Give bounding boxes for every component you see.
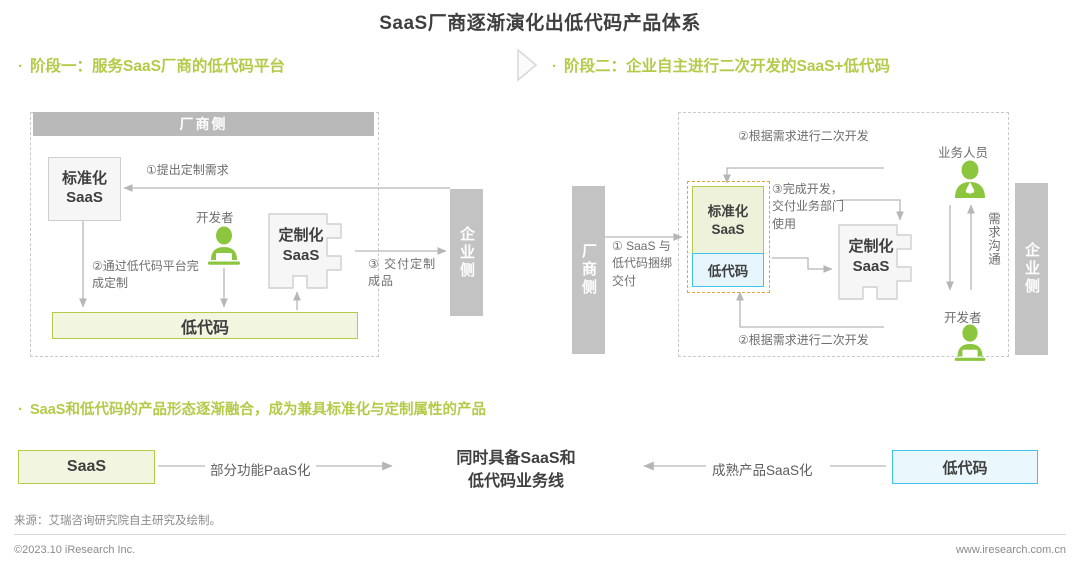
stage1-step3-caption: ③ 交付定制成品: [368, 256, 438, 291]
stage2-step2-bottom-caption: ②根据需求进行二次开发: [738, 332, 869, 349]
bottom-connectors: [0, 440, 1080, 500]
stage1-step1-caption: ①提出定制需求: [146, 162, 229, 179]
stage2-step3-caption: ③完成开发，交付业务部门使用: [772, 181, 852, 233]
stage2-step2-top-caption: ②根据需求进行二次开发: [738, 128, 869, 145]
stage2-step1-caption: ① SaaS 与低代码捆绑交付: [612, 238, 674, 290]
slide-canvas: SaaS厂商逐渐演化出低代码产品体系 ·阶段一：服务SaaS厂商的低代码平台 ·…: [0, 0, 1080, 567]
bottom-left-arrow-label: 部分功能PaaS化: [210, 459, 311, 479]
stage1-connectors: [0, 0, 540, 400]
source-note: 来源：艾瑞咨询研究院自主研究及绘制。: [14, 512, 221, 528]
footer-divider: [14, 534, 1066, 535]
bullet-icon: ·: [18, 401, 23, 418]
copyright-text: ©2023.10 iResearch Inc.: [14, 544, 135, 556]
bottom-right-arrow-label: 成熟产品SaaS化: [712, 459, 813, 479]
bottom-section-header: ·SaaS和低代码的产品形态逐渐融合，成为兼具标准化与定制属性的产品: [18, 398, 486, 419]
website-link[interactable]: www.iresearch.com.cn: [956, 544, 1066, 556]
stage1-step2-caption: ②通过低代码平台完成定制: [92, 258, 200, 293]
bottom-section-label: SaaS和低代码的产品形态逐渐融合，成为兼具标准化与定制属性的产品: [30, 402, 486, 418]
